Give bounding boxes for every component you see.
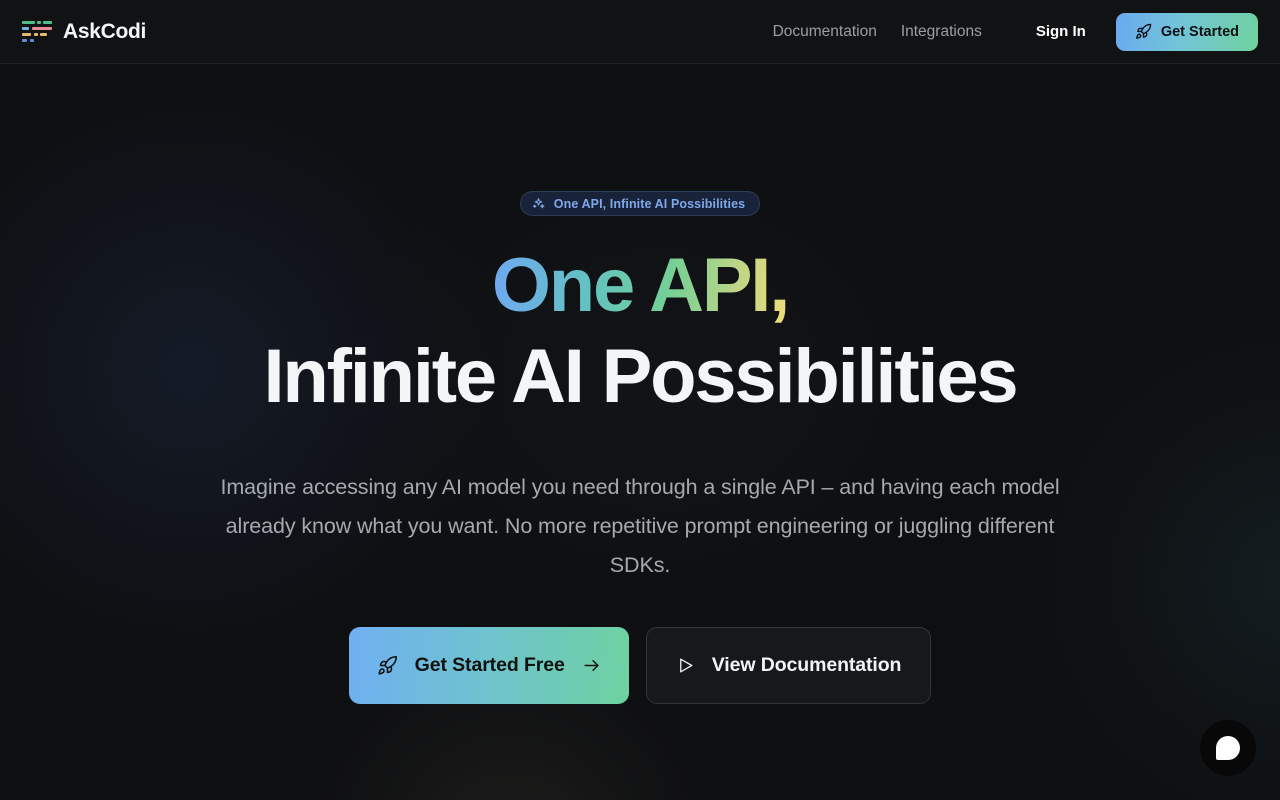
nav-link-documentation[interactable]: Documentation bbox=[761, 23, 889, 41]
hero-cta-row: Get Started Free View Documentation bbox=[349, 627, 932, 704]
nav-link-integrations[interactable]: Integrations bbox=[889, 23, 994, 41]
chat-bubble-icon bbox=[1216, 736, 1240, 760]
get-started-free-label: Get Started Free bbox=[415, 654, 565, 677]
brand-logo[interactable]: AskCodi bbox=[22, 20, 146, 44]
site-header: AskCodi Documentation Integrations Sign … bbox=[0, 0, 1280, 64]
sign-in-link[interactable]: Sign In bbox=[1022, 23, 1100, 40]
landing-page: AskCodi Documentation Integrations Sign … bbox=[0, 0, 1280, 800]
brand-name: AskCodi bbox=[63, 20, 146, 44]
rocket-icon bbox=[1135, 23, 1152, 40]
rocket-icon bbox=[377, 655, 398, 676]
headline-line-1: One API, bbox=[492, 243, 788, 328]
get-started-free-button[interactable]: Get Started Free bbox=[349, 627, 629, 704]
get-started-button[interactable]: Get Started bbox=[1116, 13, 1258, 51]
primary-nav: Documentation Integrations Sign In Get S… bbox=[761, 13, 1258, 51]
code-bars-logo-icon bbox=[22, 21, 52, 43]
arrow-right-icon bbox=[582, 656, 601, 675]
hero-section: One API, Infinite AI Possibilities One A… bbox=[0, 64, 1280, 800]
chat-widget-button[interactable] bbox=[1200, 720, 1256, 776]
view-documentation-label: View Documentation bbox=[712, 654, 902, 677]
hero-subheading: Imagine accessing any AI model you need … bbox=[220, 468, 1060, 585]
view-documentation-button[interactable]: View Documentation bbox=[646, 627, 932, 704]
hero-badge[interactable]: One API, Infinite AI Possibilities bbox=[520, 191, 760, 216]
get-started-button-label: Get Started bbox=[1161, 24, 1239, 40]
hero-badge-label: One API, Infinite AI Possibilities bbox=[554, 197, 745, 211]
page-title: One API, Infinite AI Possibilities bbox=[264, 242, 1017, 422]
play-triangle-icon bbox=[676, 656, 695, 675]
sparkles-icon bbox=[532, 197, 545, 210]
headline-line-2: Infinite AI Possibilities bbox=[264, 333, 1017, 422]
